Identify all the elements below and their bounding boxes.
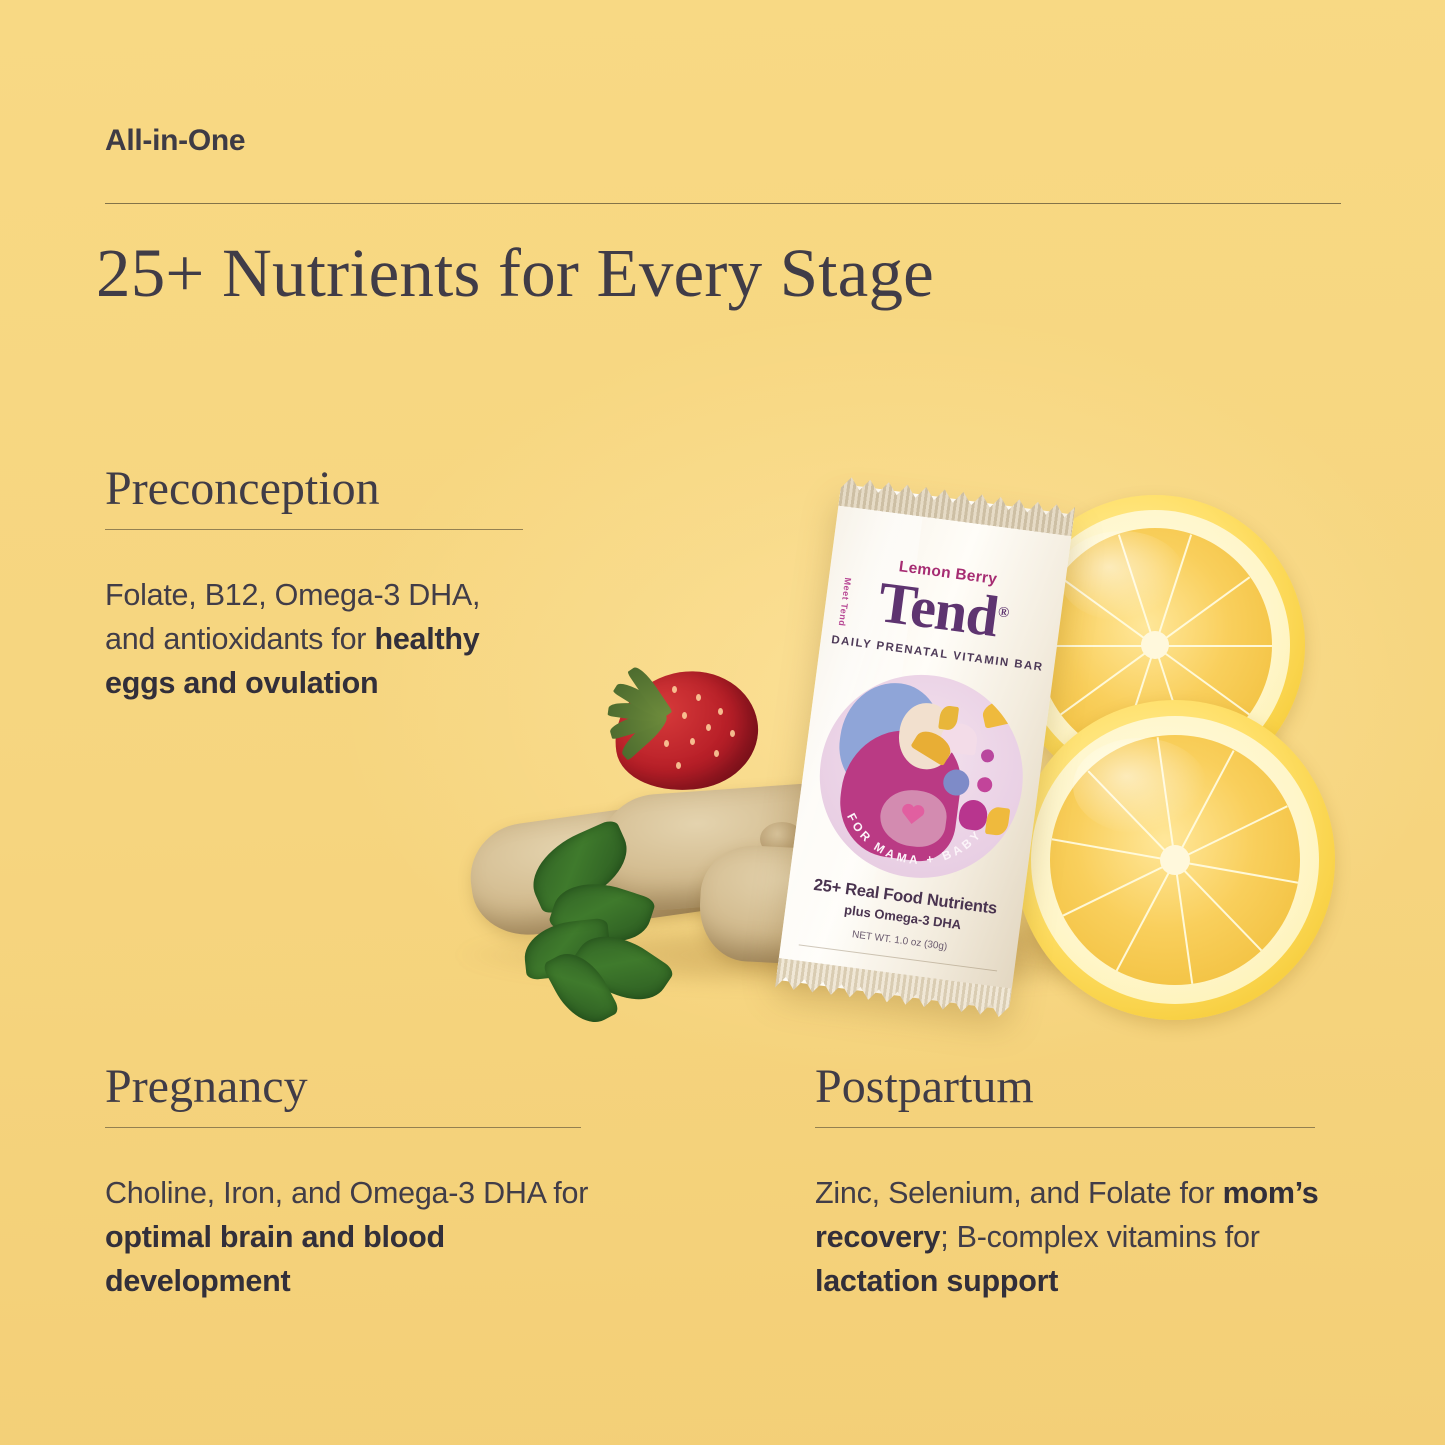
strawberry-hull xyxy=(590,684,664,768)
body-text: Choline, Iron, and Omega-3 DHA for xyxy=(105,1176,588,1210)
registered-trademark-icon: ® xyxy=(997,604,1009,621)
body-text: Zinc, Selenium, and Folate for xyxy=(815,1176,1223,1210)
page-title: 25+ Nutrients for Every Stage xyxy=(96,234,934,313)
lemon-core xyxy=(1160,845,1190,875)
body-text: ; B-complex vitamins for xyxy=(940,1220,1259,1254)
section-title: Preconception xyxy=(105,464,525,514)
lemon-highlight xyxy=(1059,531,1185,621)
product-scene: Meet Tend Lemon Berry Tend® DAILY PRENAT… xyxy=(430,450,1330,1070)
section-divider xyxy=(105,529,523,530)
section-body: Folate, B12, Omega-3 DHA, and antioxidan… xyxy=(105,574,510,706)
mint-leaves-image xyxy=(520,836,720,1026)
section-divider xyxy=(815,1127,1315,1128)
section-preconception: Preconception Folate, B12, Omega-3 DHA, … xyxy=(105,464,525,706)
package-illustration: FOR MAMA + BABY xyxy=(807,663,1035,891)
lemon-core xyxy=(1141,631,1169,659)
section-postpartum: Postpartum Zinc, Selenium, and Folate fo… xyxy=(815,1062,1325,1304)
lemon-highlight xyxy=(1073,738,1207,834)
section-pregnancy: Pregnancy Choline, Iron, and Omega-3 DHA… xyxy=(105,1062,605,1304)
section-body: Choline, Iron, and Omega-3 DHA for optim… xyxy=(105,1172,605,1304)
promo-card: All-in-One 25+ Nutrients for Every Stage xyxy=(0,0,1445,1445)
strawberry-image xyxy=(590,668,758,798)
section-divider xyxy=(105,1127,581,1128)
section-title: Postpartum xyxy=(815,1062,1325,1112)
lemon-half-bottom-image xyxy=(1015,700,1335,1020)
body-emphasis: lactation support xyxy=(815,1264,1058,1298)
header-divider xyxy=(105,203,1341,204)
svg-text:FOR MAMA + BABY: FOR MAMA + BABY xyxy=(839,809,986,875)
eyebrow-label: All-in-One xyxy=(105,124,245,158)
section-body: Zinc, Selenium, and Folate for mom’s rec… xyxy=(815,1172,1327,1304)
package-badge-text: FOR MAMA + BABY xyxy=(807,663,1035,891)
section-title: Pregnancy xyxy=(105,1062,605,1112)
body-emphasis: optimal brain and blood development xyxy=(105,1220,445,1298)
